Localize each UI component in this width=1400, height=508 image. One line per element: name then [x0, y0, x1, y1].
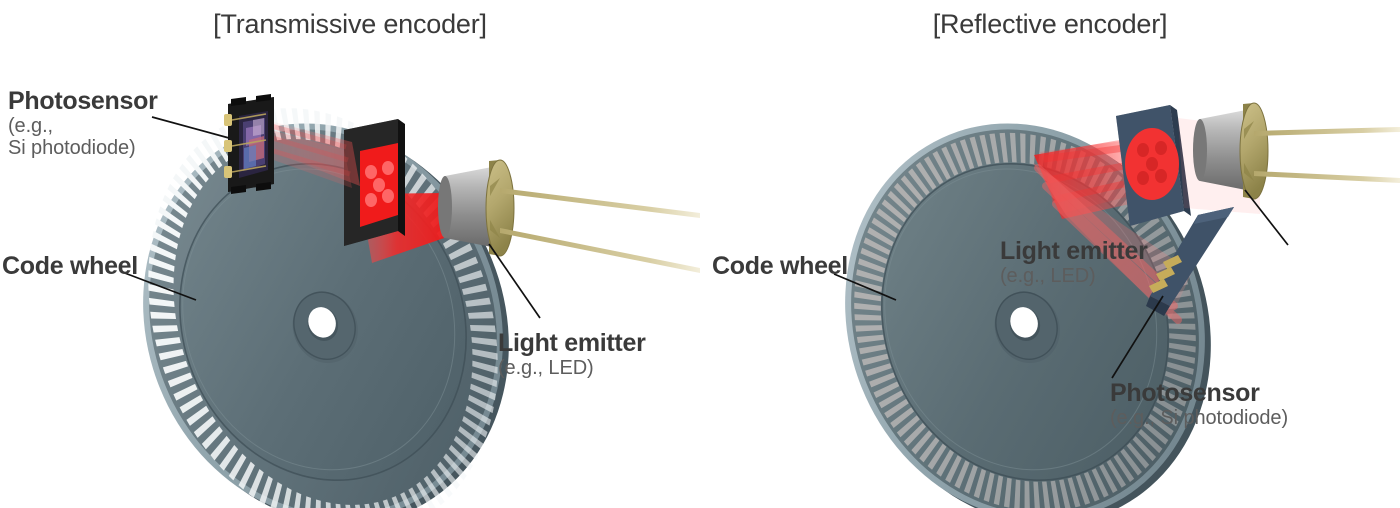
led-flange-reflective — [1240, 103, 1268, 199]
leader-photosensor — [152, 117, 229, 138]
label-light-emitter-title: Light emitter — [498, 330, 646, 357]
light-emitter-reflective — [1193, 103, 1400, 199]
label-photosensor-title-reflective: Photosensor — [1110, 380, 1288, 407]
label-code-wheel-transmissive: Code wheel — [2, 253, 138, 280]
label-light-emitter-sub-reflective: (e.g., LED) — [1000, 265, 1148, 288]
led-leads — [500, 188, 700, 273]
label-photosensor-title: Photosensor — [8, 88, 158, 115]
label-photosensor-sub-2: Si photodiode) — [8, 137, 158, 160]
label-code-wheel-title: Code wheel — [2, 253, 138, 280]
label-light-emitter-sub-1: (e.g., LED) — [498, 357, 646, 380]
label-photosensor-reflective: Photosensor (e.g., Si photodiode) — [1110, 380, 1288, 429]
label-light-emitter-transmissive: Light emitter (e.g., LED) — [498, 330, 646, 379]
label-light-emitter-title-reflective: Light emitter — [1000, 238, 1148, 265]
photosensor-contacts — [224, 114, 232, 178]
led-flange — [486, 160, 514, 256]
label-code-wheel-reflective: Code wheel — [712, 253, 848, 280]
label-light-emitter-reflective: Light emitter (e.g., LED) — [1000, 238, 1148, 287]
photosensor-die — [243, 118, 265, 171]
encoder-comparison-figure: [Transmissive encoder] — [0, 0, 1400, 508]
label-photosensor-transmissive: Photosensor (e.g., Si photodiode) — [8, 88, 158, 160]
panel-transmissive: [Transmissive encoder] — [0, 0, 700, 508]
leader-light-emitter-reflective — [1245, 190, 1288, 245]
photosensor-transmissive — [224, 94, 274, 194]
label-photosensor-sub-reflective: (e.g., Si photodiode) — [1110, 407, 1288, 430]
label-code-wheel-title-reflective: Code wheel — [712, 253, 848, 280]
panel-reflective: [Reflective encoder] — [700, 0, 1400, 508]
label-photosensor-sub-1: (e.g., — [8, 115, 158, 138]
led-leads-reflective — [1254, 127, 1400, 183]
